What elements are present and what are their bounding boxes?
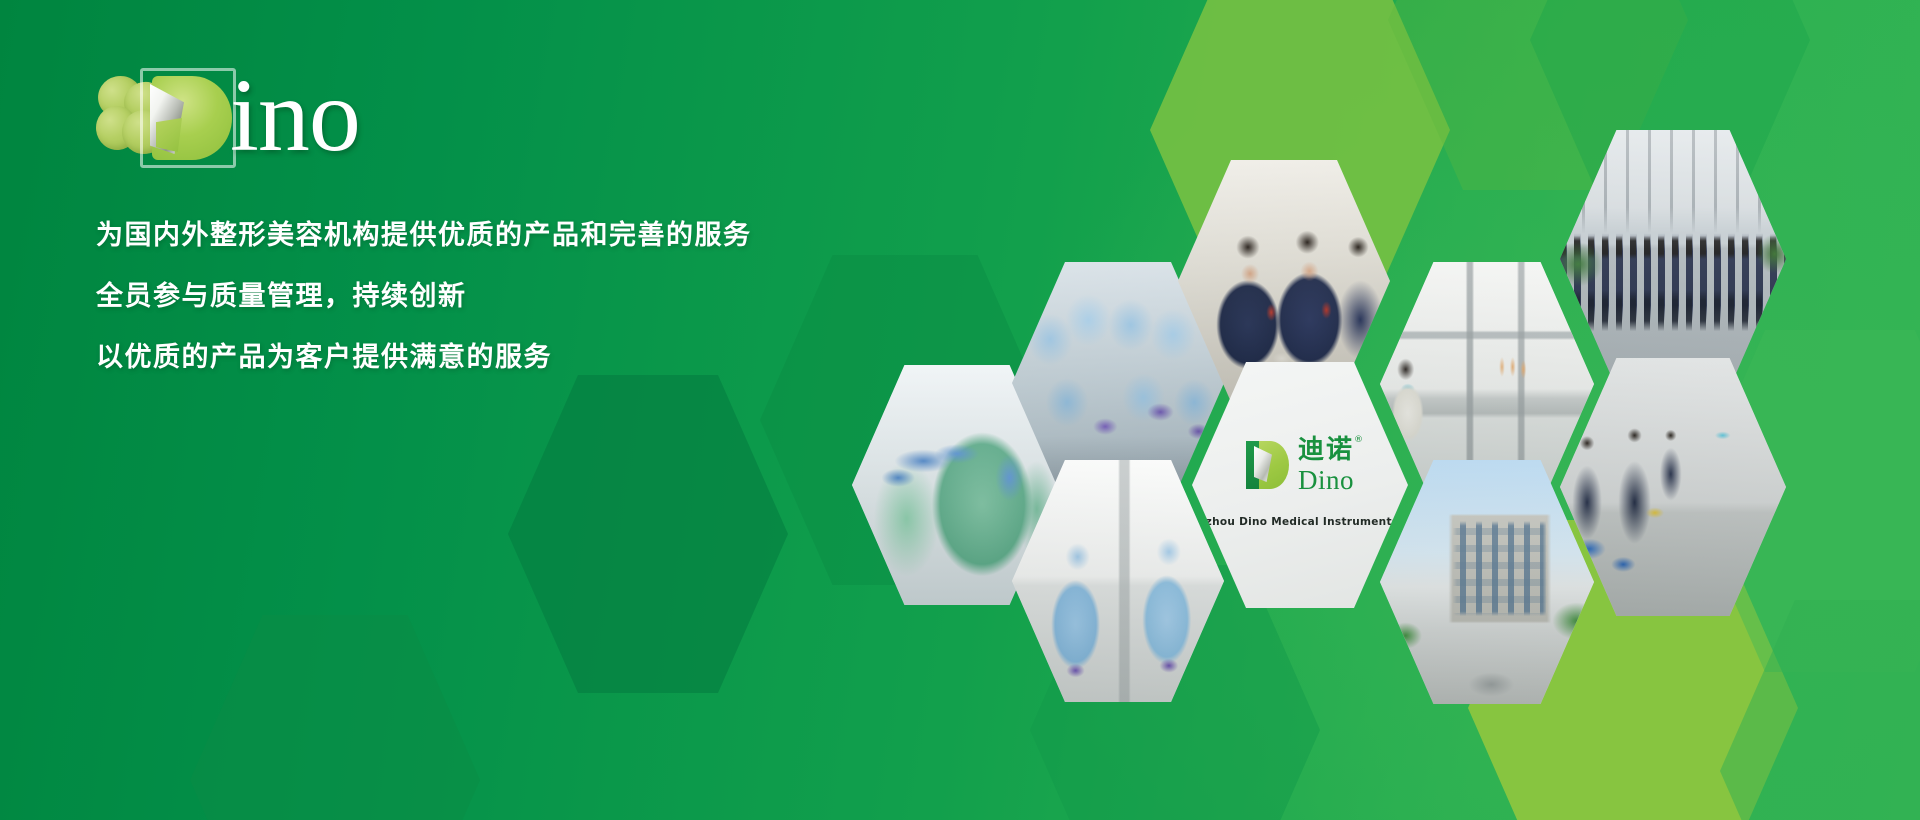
dino-mark-icon [1246, 440, 1290, 490]
bg-hexagon-dark-lower-left [190, 615, 480, 820]
slogan-list: 为国内外整形美容机构提供优质的产品和完善的服务 全员参与质量管理，持续创新 以优… [96, 222, 856, 371]
brand-name-cn: 迪诺® [1298, 437, 1354, 463]
photo-hex-cnc-machines [1560, 358, 1786, 616]
bg-hexagon-green-right-low [1720, 600, 1920, 820]
slogan-line-2: 全员参与质量管理，持续创新 [96, 283, 856, 310]
slogan-line-1: 为国内外整形美容机构提供优质的产品和完善的服务 [96, 222, 856, 249]
logo-wordmark: ino [230, 64, 360, 168]
dino-logo-large: ino [96, 62, 856, 170]
photo-hex-group-photo [1560, 130, 1786, 388]
bg-hexagon-dark-left [508, 375, 788, 693]
photo-hex-factory-building [1380, 460, 1594, 704]
company-profile-banner: 迪诺® Dino Hangzhou Dino Medical Instrumen… [0, 0, 1920, 820]
slogan-line-3: 以优质的产品为客户提供满意的服务 [96, 344, 856, 371]
brand-name-en: Dino [1298, 467, 1354, 494]
dino-d-mark-icon [140, 68, 236, 168]
dino-logo-small: 迪诺® Dino [1246, 437, 1354, 494]
registered-trademark-icon: ® [1354, 436, 1365, 445]
company-legal-name: Hangzhou Dino Medical Instruments Co.. [1174, 516, 1427, 528]
brand-hexagon-card: 迪诺® Dino Hangzhou Dino Medical Instrumen… [1192, 362, 1408, 608]
brand-and-slogan-block: ino 为国内外整形美容机构提供优质的产品和完善的服务 全员参与质量管理，持续创… [96, 62, 856, 371]
